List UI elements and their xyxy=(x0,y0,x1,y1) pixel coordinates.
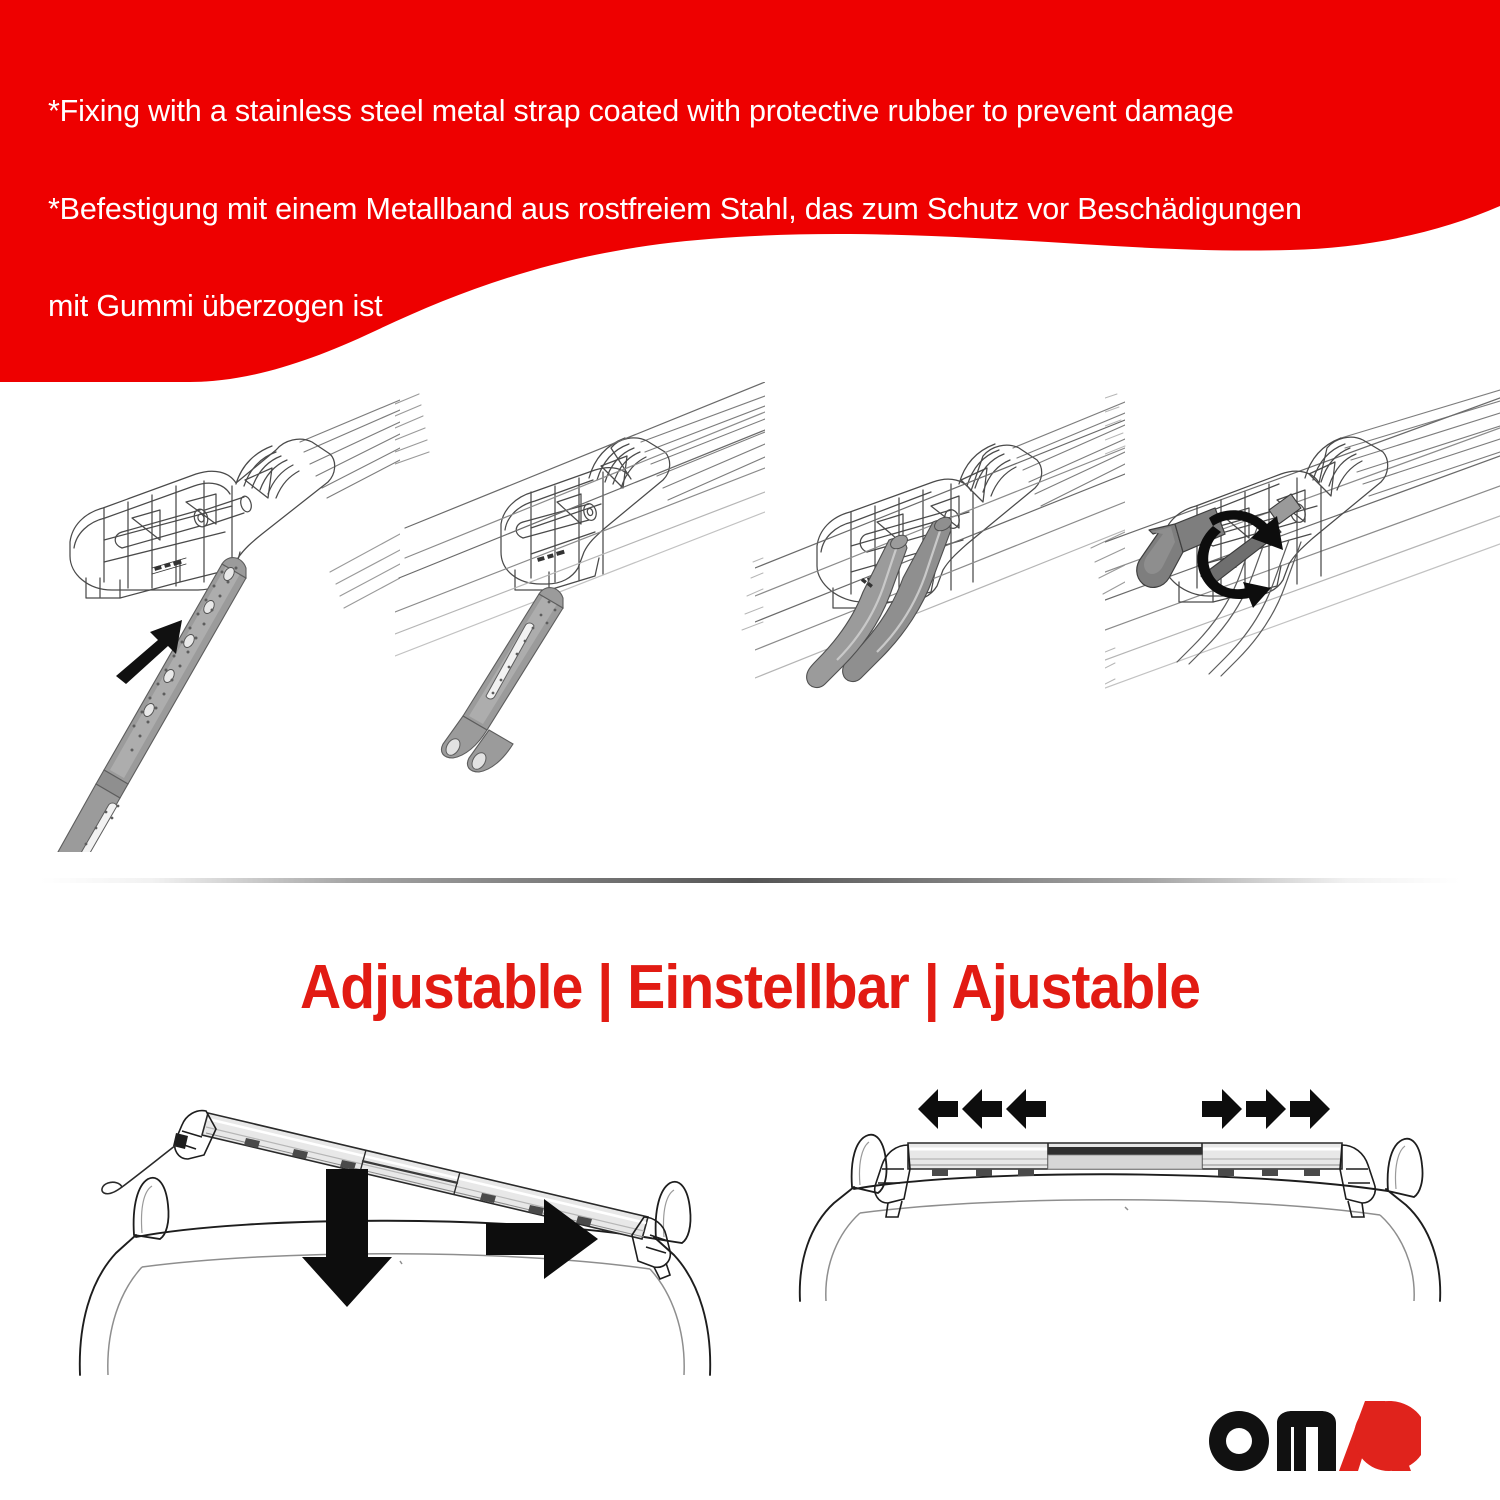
adjustability-diagrams xyxy=(0,1075,1500,1405)
step-1-insert-strap xyxy=(0,382,400,852)
omac-logo xyxy=(1205,1393,1455,1475)
logo-om-dark xyxy=(1209,1411,1336,1471)
metal-strap xyxy=(8,558,246,852)
installation-steps xyxy=(0,382,1500,852)
banner-line-de-1: *Befestigung mit einem Metallband aus ro… xyxy=(48,193,1468,226)
step-3-strap-wrapped xyxy=(755,382,1125,852)
down-arrow-icon xyxy=(302,1169,392,1307)
diagram-lower-slide xyxy=(50,1075,750,1410)
banner-line-de-2: mit Gummi überzogen ist xyxy=(48,290,1468,323)
header-banner: *Fixing with a stainless steel metal str… xyxy=(0,0,1500,380)
metal-strap-wrapped xyxy=(807,514,954,687)
metal-strap xyxy=(441,588,563,772)
step-2-strap-under-rail xyxy=(395,382,765,852)
adjustable-headline: Adjustable | Einstellbar | Ajustable xyxy=(60,952,1440,1023)
triple-right-arrow-icon xyxy=(1202,1089,1330,1129)
logo-ac-red xyxy=(1339,1401,1421,1471)
banner-line-en: *Fixing with a stainless steel metal str… xyxy=(48,95,1468,128)
diagram-extend-width xyxy=(780,1075,1470,1410)
step-4-tighten-bolt xyxy=(1105,382,1500,852)
triple-left-arrow-icon xyxy=(918,1089,1046,1129)
section-divider xyxy=(40,878,1460,883)
